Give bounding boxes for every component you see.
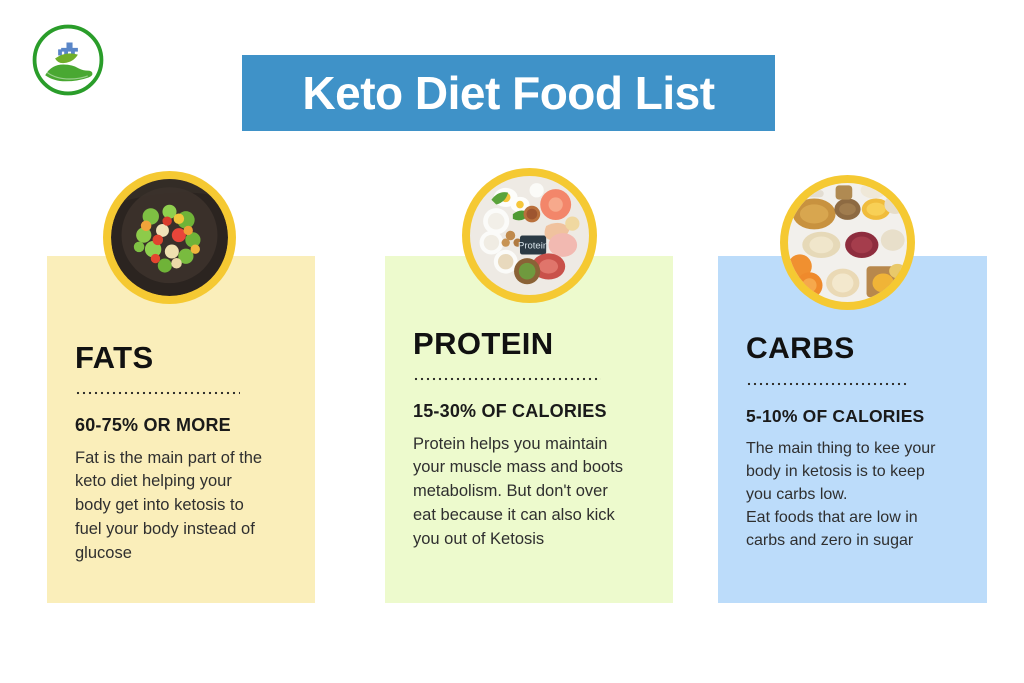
card-protein-amount: 15-30% OF CALORIES bbox=[413, 399, 655, 425]
health-hand-leaf-cross-icon bbox=[30, 22, 106, 98]
card-protein-heading: PROTEIN bbox=[413, 328, 655, 359]
protein-photo-inner: Protein bbox=[470, 176, 589, 295]
grains-legumes-illustration bbox=[788, 183, 907, 302]
brand-logo bbox=[30, 22, 106, 98]
card-carbs-body: The main thing to kee your body in ketos… bbox=[746, 437, 969, 552]
card-fats: FATS 60-75% OR MORE Fat is the main part… bbox=[47, 256, 315, 603]
fats-photo-inner bbox=[111, 179, 228, 296]
card-fats-amount: 60-75% OR MORE bbox=[75, 413, 297, 439]
card-protein: PROTEIN 15-30% OF CALORIES Protein helps… bbox=[385, 256, 673, 603]
card-protein-divider bbox=[413, 377, 601, 381]
card-fats-heading: FATS bbox=[75, 342, 297, 373]
protein-foods-assortment-photo: Protein bbox=[462, 168, 597, 303]
carbs-photo-inner bbox=[788, 183, 907, 302]
card-carbs-heading: CARBS bbox=[746, 334, 969, 364]
grains-legumes-carbs-photo bbox=[780, 175, 915, 310]
card-carbs-amount: 5-10% OF CALORIES bbox=[746, 404, 969, 429]
card-fats-body: Fat is the main part of the keto diet he… bbox=[75, 447, 297, 566]
protein-foods-illustration: Protein bbox=[470, 176, 589, 295]
vegetable-stirfry-pan-photo bbox=[103, 171, 236, 304]
card-protein-body: Protein helps you maintain your muscle m… bbox=[413, 433, 655, 552]
page-title: Keto Diet Food List bbox=[302, 70, 714, 116]
card-fats-divider bbox=[75, 391, 240, 395]
svg-text:Protein: Protein bbox=[518, 241, 548, 252]
page-title-banner: Keto Diet Food List bbox=[242, 55, 775, 131]
vegetable-stirfry-illustration bbox=[111, 179, 228, 296]
card-carbs-divider bbox=[746, 382, 909, 386]
